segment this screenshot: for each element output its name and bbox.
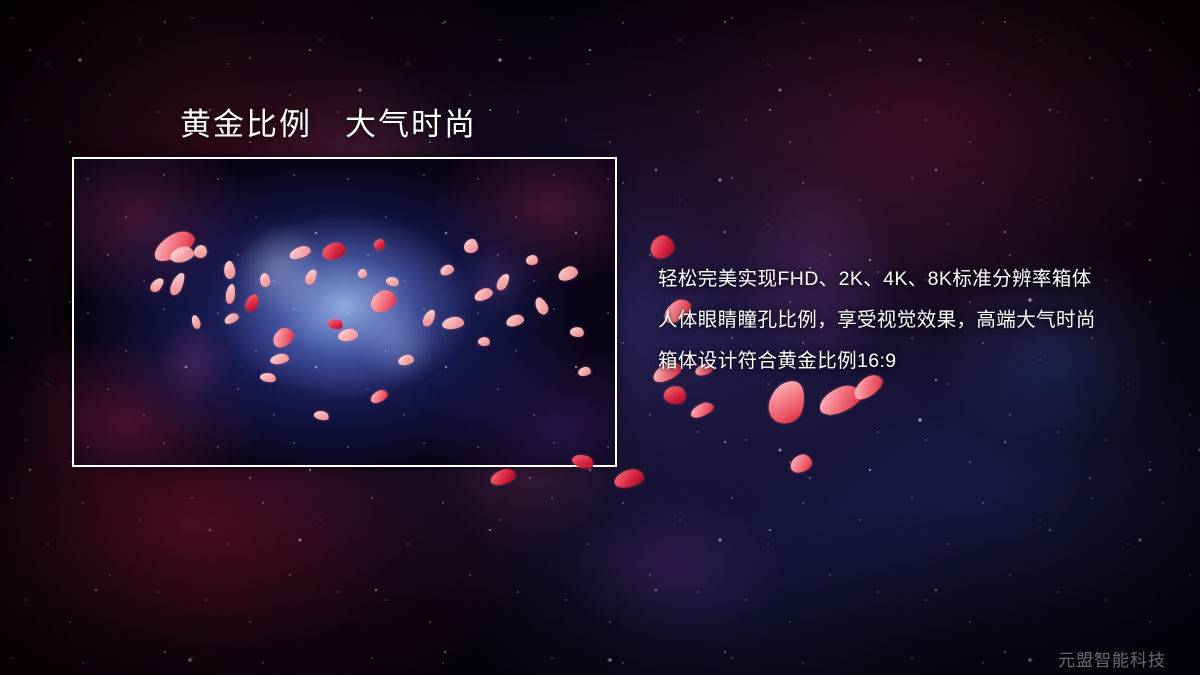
watermark-text: 元盟智能科技 [1058, 646, 1166, 671]
photo-starfield [74, 159, 615, 465]
body-line-1: 轻松完美实现FHD、2K、4K、8K标准分辨率箱体 [658, 259, 1158, 300]
photo-frame [72, 157, 617, 467]
body-line-3: 箱体设计符合黄金比例16:9 [658, 341, 1158, 382]
petal [526, 255, 538, 265]
presentation-slide: 黄金比例 大气时尚 [0, 0, 1200, 675]
petal [464, 239, 478, 253]
petal [374, 239, 385, 250]
page-title: 黄金比例 大气时尚 [180, 99, 477, 144]
body-line-2: 人体眼睛瞳孔比例，享受视觉效果，高端大气时尚 [658, 300, 1158, 341]
petal [358, 269, 367, 278]
body-text-block: 轻松完美实现FHD、2K、4K、8K标准分辨率箱体 人体眼睛瞳孔比例，享受视觉效… [658, 259, 1158, 382]
